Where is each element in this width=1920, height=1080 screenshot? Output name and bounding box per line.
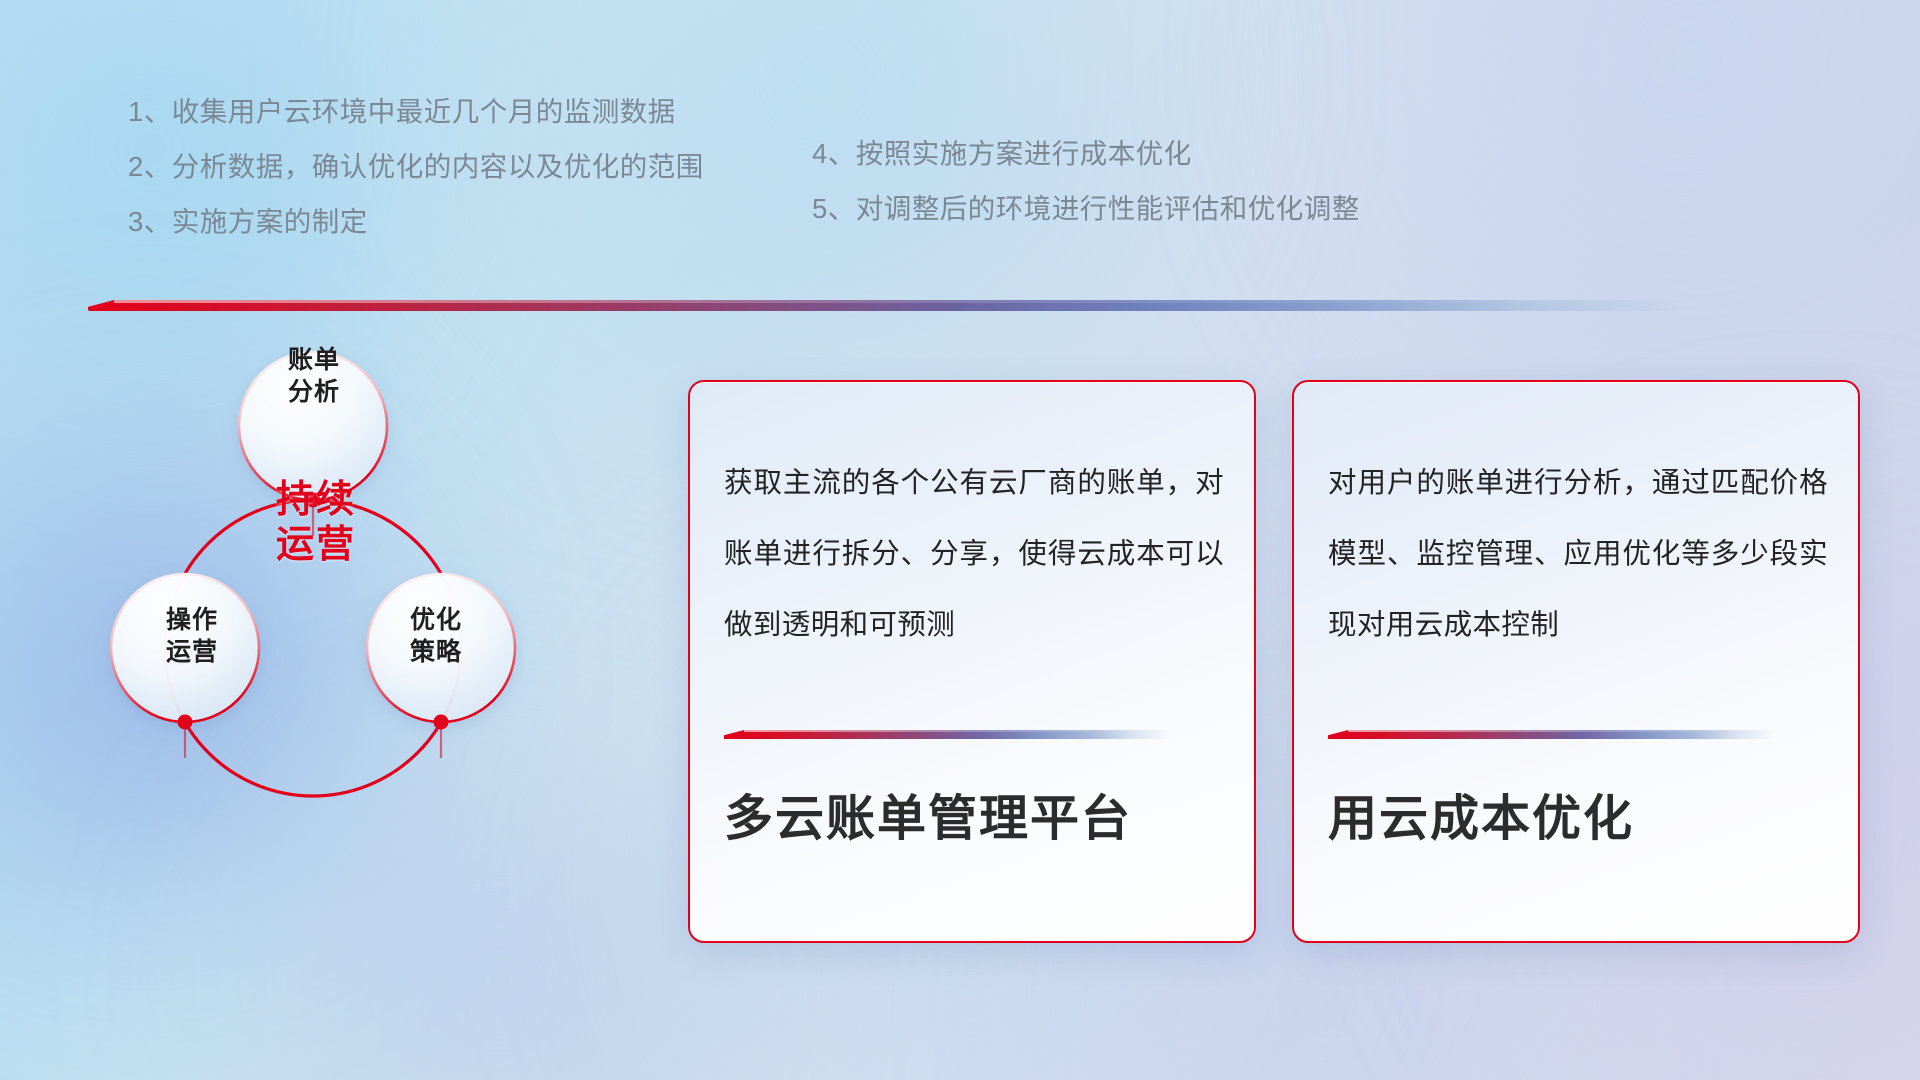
step-item-5: 5、对调整后的环境进行性能评估和优化调整 [812,181,1360,236]
card-1-title: 多云账单管理平台 [724,790,1224,849]
venn-label-bill-analysis: 账单 分析 [234,344,394,408]
step-list-left-column: 1、收集用户云环境中最近几个月的监测数据 2、分析数据，确认优化的内容以及优化的… [128,84,704,249]
venn-label-operation-ops: 操作 运营 [112,604,272,668]
card-2-accent-rule [1328,730,1774,739]
process-step-list: 1、收集用户云环境中最近几个月的监测数据 2、分析数据，确认优化的内容以及优化的… [0,84,1920,264]
card-2-title: 用云成本优化 [1328,790,1828,849]
card-1-rule-highlight [744,730,1170,732]
card-2-rule-highlight [1348,730,1774,732]
step-item-1: 1、收集用户云环境中最近几个月的监测数据 [128,84,704,139]
continuous-operations-diagram: 账单 分析 操作 运营 优化 策略 持续 运营 [88,348,608,948]
step-item-3: 3、实施方案的制定 [128,194,704,249]
venn-dot-bottom-left [178,715,193,730]
divider-highlight [114,300,1688,303]
card-2-description: 对用户的账单进行分析，通过匹配价格模型、监控管理、应用优化等多少段实现对用云成本… [1328,448,1828,661]
step-item-2: 2、分析数据，确认优化的内容以及优化的范围 [128,139,704,194]
venn-label-center: 持续 运营 [216,478,416,568]
card-multi-cloud-billing-platform[interactable]: 获取主流的各个公有云厂商的账单，对账单进行拆分、分享，使得云成本可以做到透明和可… [688,380,1256,943]
section-divider [88,300,1688,311]
step-list-right-column: 4、按照实施方案进行成本优化 5、对调整后的环境进行性能评估和优化调整 [812,126,1360,236]
card-1-accent-rule [724,730,1170,739]
venn-dot-bottom-right [434,715,449,730]
step-item-4: 4、按照实施方案进行成本优化 [812,126,1360,181]
card-1-description: 获取主流的各个公有云厂商的账单，对账单进行拆分、分享，使得云成本可以做到透明和可… [724,448,1224,661]
venn-label-optimization-policy: 优化 策略 [356,604,516,668]
card-cloud-cost-optimization[interactable]: 对用户的账单进行分析，通过匹配价格模型、监控管理、应用优化等多少段实现对用云成本… [1292,380,1860,943]
